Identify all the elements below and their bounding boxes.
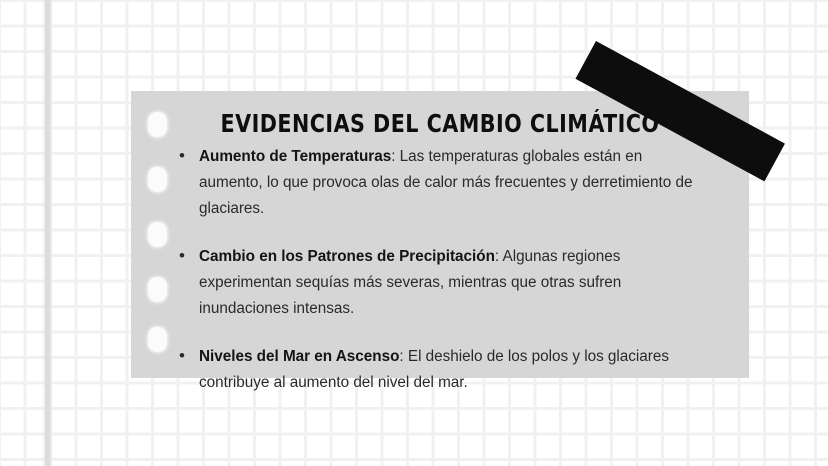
margin-rule-line (45, 0, 50, 466)
list-item: Niveles del Mar en Ascenso: El deshielo … (177, 344, 697, 396)
list-item-lead: Cambio en los Patrones de Precipitación (199, 248, 495, 265)
card-text-area: EVIDENCIAS DEL CAMBIO CLIMÁTICO Aumento … (131, 91, 749, 378)
list-item: Aumento de Temperaturas: Las temperatura… (177, 144, 697, 222)
slide-canvas: EVIDENCIAS DEL CAMBIO CLIMÁTICO Aumento … (0, 0, 828, 466)
list-item-lead: Niveles del Mar en Ascenso (199, 348, 399, 365)
evidence-bullet-list: Aumento de Temperaturas: Las temperatura… (177, 144, 697, 396)
list-item: Cambio en los Patrones de Precipitación:… (177, 244, 697, 322)
list-item-lead: Aumento de Temperaturas (199, 148, 391, 165)
